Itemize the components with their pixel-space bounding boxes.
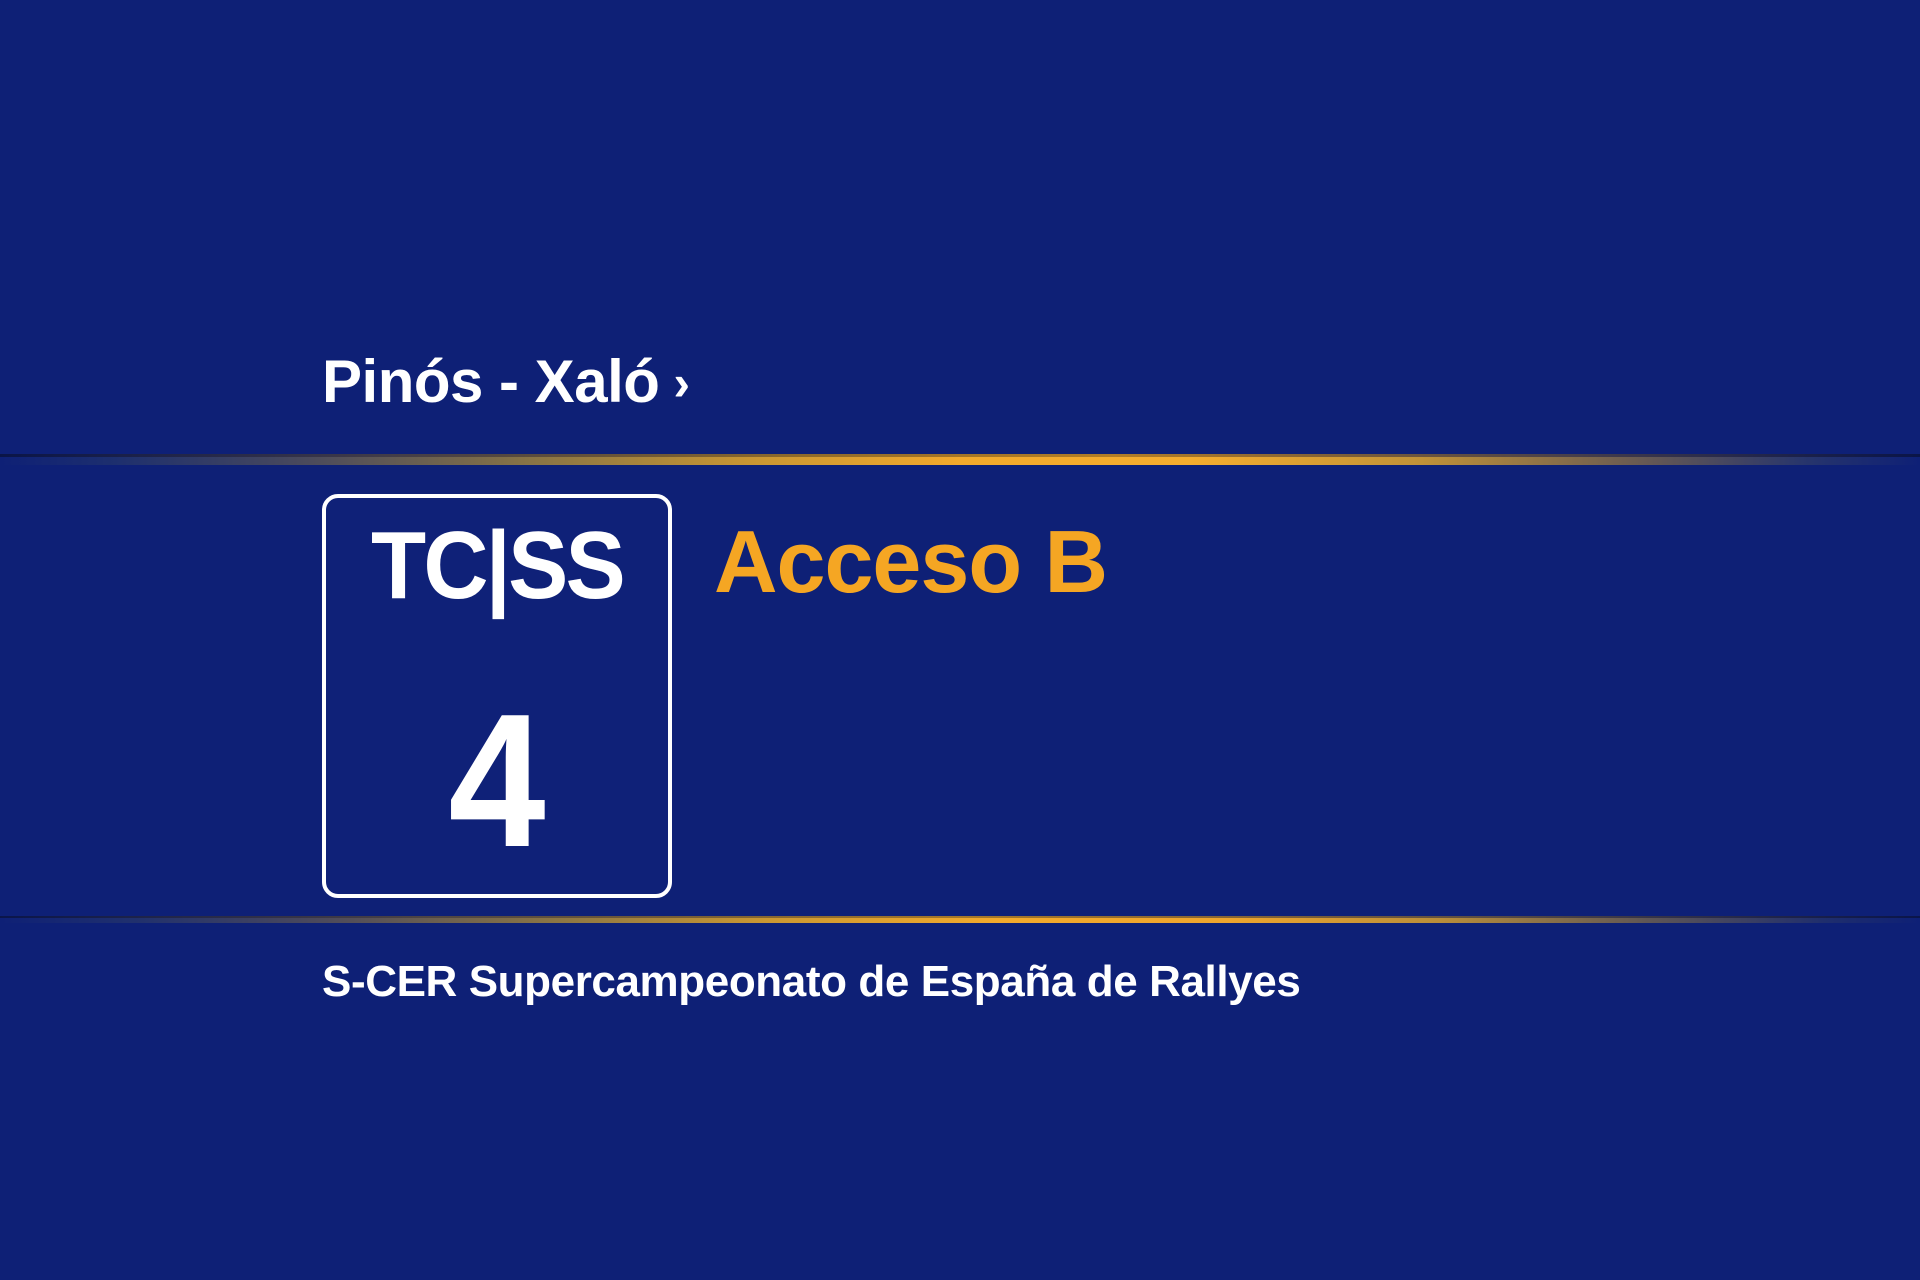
access-title: Acceso B [714,518,1107,606]
breadcrumb[interactable]: Pinós - Xaló › [322,352,690,412]
stage-badge-type-label: TC|SS [371,516,623,617]
stage-badge: TC|SS 4 [322,494,672,898]
stage-badge-number: 4 [448,686,545,876]
chevron-right-icon: › [673,358,690,408]
rally-stage-info-card: Pinós - Xaló › TC|SS 4 Acceso B S-CER Su… [0,0,1920,1280]
divider-bottom [0,916,1920,923]
main-row: TC|SS 4 Acceso B [322,494,1107,898]
championship-caption: S-CER Supercampeonato de España de Rally… [322,960,1300,1004]
divider-top [0,454,1920,465]
breadcrumb-stage-name[interactable]: Pinós - Xaló [322,352,659,412]
